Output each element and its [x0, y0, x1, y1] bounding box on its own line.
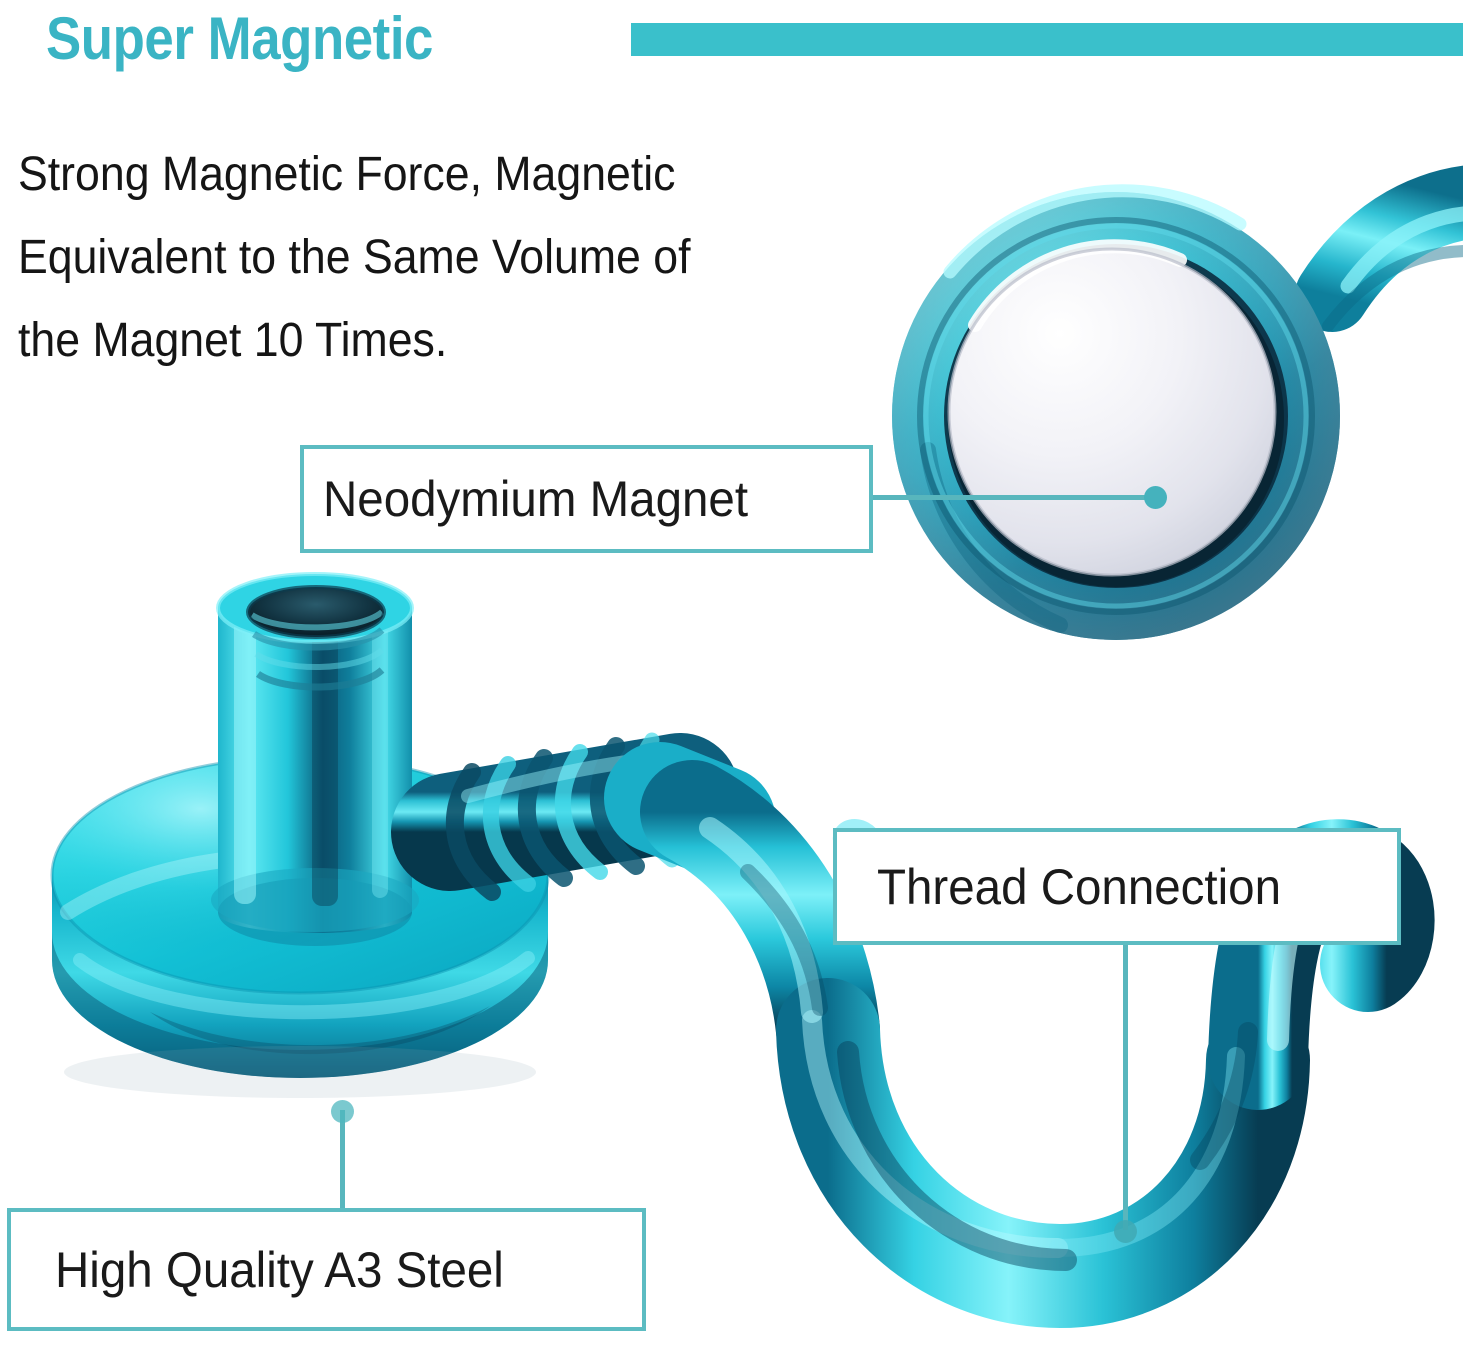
leader-dot-steel — [331, 1100, 354, 1123]
description-text: Strong Magnetic Force, Magnetic Equivale… — [18, 133, 864, 382]
leader-line-steel — [340, 1110, 345, 1210]
description-line-3: the Magnet 10 Times. — [18, 299, 864, 382]
hook-arm-upper — [1328, 201, 1463, 425]
callout-thread-label: Thread Connection — [877, 858, 1281, 916]
callout-steel-label: High Quality A3 Steel — [55, 1241, 504, 1299]
leader-dot-thread — [1114, 1220, 1137, 1243]
description-line-2: Equivalent to the Same Volume of — [18, 216, 864, 299]
leader-line-neodymium — [872, 495, 1156, 500]
threaded-boss — [211, 574, 419, 946]
leader-line-thread — [1123, 943, 1128, 1230]
callout-thread-connection: Thread Connection — [833, 828, 1401, 945]
title-accent-bar — [631, 23, 1463, 56]
callout-neodymium-magnet: Neodymium Magnet — [300, 445, 873, 553]
neodymium-magnet-face — [949, 246, 1275, 575]
callout-high-quality-a3-steel: High Quality A3 Steel — [7, 1208, 646, 1331]
page-title: Super Magnetic — [46, 8, 433, 70]
infographic-canvas: Super Magnetic Strong Magnetic Force, Ma… — [0, 0, 1463, 1349]
callout-neodymium-label: Neodymium Magnet — [323, 470, 748, 528]
description-line-1: Strong Magnetic Force, Magnetic — [18, 133, 864, 216]
leader-dot-neodymium — [1144, 486, 1167, 509]
